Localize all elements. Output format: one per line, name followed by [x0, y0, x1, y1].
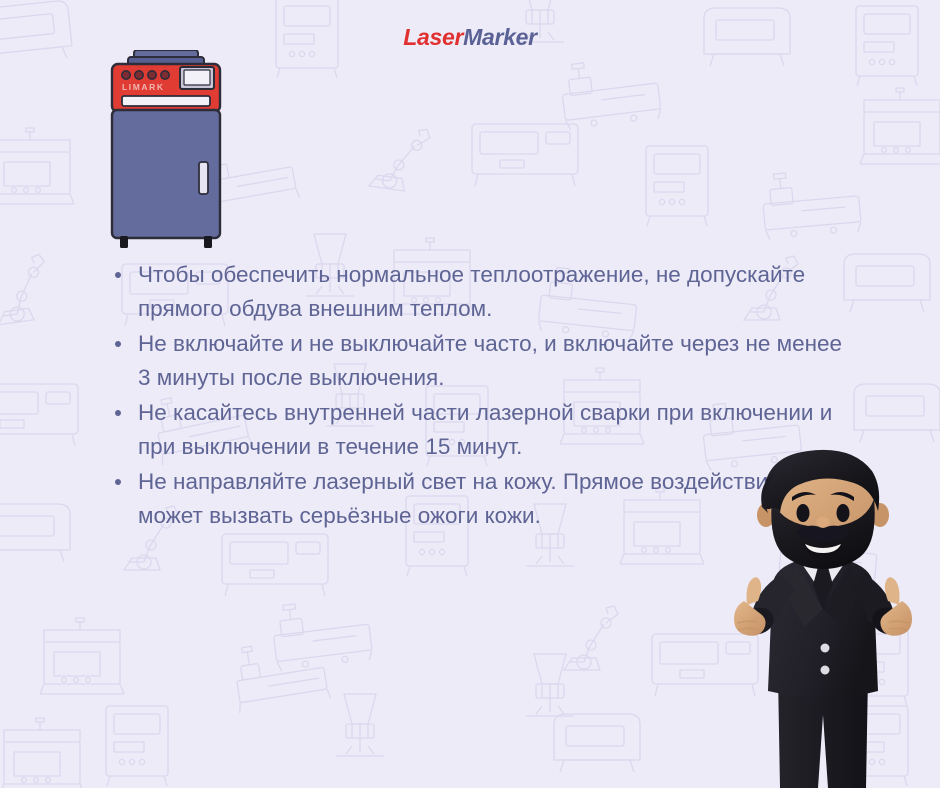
bullet-dot-icon [115, 410, 121, 416]
mascot-eye-right [837, 504, 850, 522]
logo-part-laser: Laser [403, 24, 463, 50]
mascot-nose [817, 517, 830, 528]
machine-brand-label: LIMARK [122, 82, 165, 92]
laser-welding-machine-illustration: LIMARK [98, 50, 234, 250]
bullet-dot-icon [115, 479, 121, 485]
bullet-dot-icon [115, 272, 121, 278]
logo-part-marker: Marker [463, 24, 537, 50]
mascot-eye-left [797, 504, 810, 522]
list-item-text: Не включайте и не выключайте часто, и вк… [138, 327, 850, 395]
list-item-text: Чтобы обеспечить нормальное теплоотражен… [138, 258, 850, 326]
mascot-button [821, 666, 830, 675]
mascot-businessman-thumbs-up [700, 443, 940, 788]
bullet-dot-icon [115, 341, 121, 347]
brand-logo: LaserMarker [0, 24, 940, 51]
poster-canvas: LaserMarker LIMARK [0, 0, 940, 788]
list-item: Чтобы обеспечить нормальное теплоотражен… [112, 258, 872, 326]
list-item: Не включайте и не выключайте часто, и вк… [112, 327, 872, 395]
mascot-button [821, 644, 830, 653]
